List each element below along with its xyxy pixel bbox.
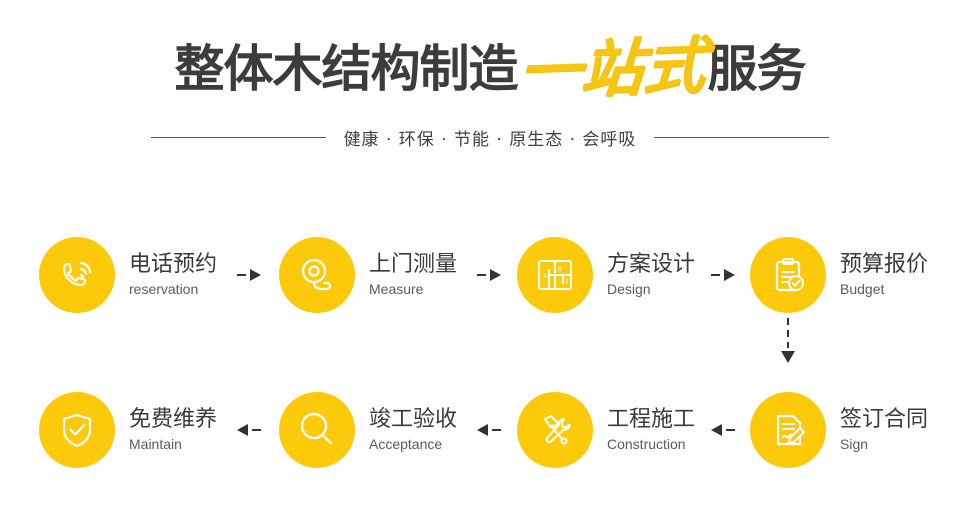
arrow-dash: [252, 429, 261, 431]
step-label-en: Sign: [840, 435, 928, 453]
arrow-step7-to-step8: [237, 422, 269, 438]
arrow-dash: [726, 429, 735, 431]
flow-step-labels: 方案设计 Design: [607, 252, 695, 297]
flow-step-labels: 上门测量 Measure: [369, 252, 457, 297]
divider-line-left: [151, 137, 326, 138]
flow-step-labels: 工程施工 Construction: [607, 407, 695, 452]
arrow-step3-to-step4: [711, 267, 743, 283]
arrow-head: [477, 424, 488, 436]
step-label-cn: 上门测量: [369, 252, 457, 277]
divider-line-right: [654, 137, 829, 138]
arrow-head: [781, 351, 795, 363]
arrow-step1-to-step2: [237, 267, 269, 283]
magnifier-icon: [279, 392, 355, 468]
arrow-dash: [492, 429, 501, 431]
step-label-cn: 工程施工: [607, 407, 695, 432]
hammer-wrench-icon: [517, 392, 593, 468]
clipboard-check-icon: [750, 237, 826, 313]
step-label-en: Acceptance: [369, 435, 457, 453]
flow-step-labels: 签订合同 Sign: [840, 407, 928, 452]
arrow-step4-to-step5: [780, 318, 796, 370]
arrow-dash: [237, 274, 246, 276]
arrow-head: [250, 269, 261, 281]
floor-plan-number-10: 10: [543, 274, 550, 280]
step-label-en: Design: [607, 280, 695, 298]
step-label-cn: 方案设计: [607, 252, 695, 277]
step-label-en: Maintain: [129, 435, 217, 453]
step-label-cn: 签订合同: [840, 407, 928, 432]
phone-ring-icon: [39, 237, 115, 313]
arrow-head: [490, 269, 501, 281]
step-label-en: Construction: [607, 435, 695, 453]
arrow-dash: [711, 274, 720, 276]
shield-check-icon: [39, 392, 115, 468]
arrow-head: [237, 424, 248, 436]
header-banner: 整体木结构制造 一站式 服务 健康 · 环保 · 节能 · 原生态 · 会呼吸: [0, 0, 980, 170]
tape-measure-icon: [279, 237, 355, 313]
flow-step-maintain[interactable]: 免费维养 Maintain: [39, 392, 217, 468]
flow-step-labels: 免费维养 Maintain: [129, 407, 217, 452]
floor-plan-icon: 10 5 3: [517, 237, 593, 313]
subtitle-row: 健康 · 环保 · 节能 · 原生态 · 会呼吸: [0, 125, 980, 150]
arrow-step5-to-step6: [711, 422, 743, 438]
floor-plan-number-3: 3: [565, 279, 569, 285]
flow-step-reservation[interactable]: 电话预约 reservation: [39, 237, 217, 313]
step-label-cn: 竣工验收: [369, 407, 457, 432]
flow-step-construction[interactable]: 工程施工 Construction: [517, 392, 695, 468]
flow-step-labels: 竣工验收 Acceptance: [369, 407, 457, 452]
arrow-dash: [477, 274, 486, 276]
title-accent-script: 一站式: [517, 35, 708, 103]
page-title: 整体木结构制造 一站式 服务: [0, 38, 980, 100]
arrow-step6-to-step7: [477, 422, 509, 438]
step-label-en: Budget: [840, 280, 928, 298]
flow-step-budget[interactable]: 预算报价 Budget: [750, 237, 928, 313]
step-label-cn: 电话预约: [129, 252, 217, 277]
flow-step-design[interactable]: 10 5 3 方案设计 Design: [517, 237, 695, 313]
flow-step-sign[interactable]: 签订合同 Sign: [750, 392, 928, 468]
subtitle-text: 健康 · 环保 · 节能 · 原生态 · 会呼吸: [344, 125, 637, 150]
contract-pen-icon: [750, 392, 826, 468]
flow-step-labels: 预算报价 Budget: [840, 252, 928, 297]
step-label-en: reservation: [129, 280, 217, 298]
step-label-cn: 预算报价: [840, 252, 928, 277]
process-flow: 电话预约 reservation 上门测量 Measure: [0, 200, 980, 505]
arrow-head: [711, 424, 722, 436]
title-part2: 服务: [708, 44, 806, 94]
title-part1: 整体木结构制造: [174, 44, 517, 94]
arrow-dashed-line: [787, 318, 789, 348]
flow-step-acceptance[interactable]: 竣工验收 Acceptance: [279, 392, 457, 468]
flow-step-measure[interactable]: 上门测量 Measure: [279, 237, 457, 313]
step-label-cn: 免费维养: [129, 407, 217, 432]
arrow-head: [724, 269, 735, 281]
arrow-step2-to-step3: [477, 267, 509, 283]
floor-plan-number-5: 5: [558, 267, 562, 273]
step-label-en: Measure: [369, 280, 457, 298]
flow-step-labels: 电话预约 reservation: [129, 252, 217, 297]
